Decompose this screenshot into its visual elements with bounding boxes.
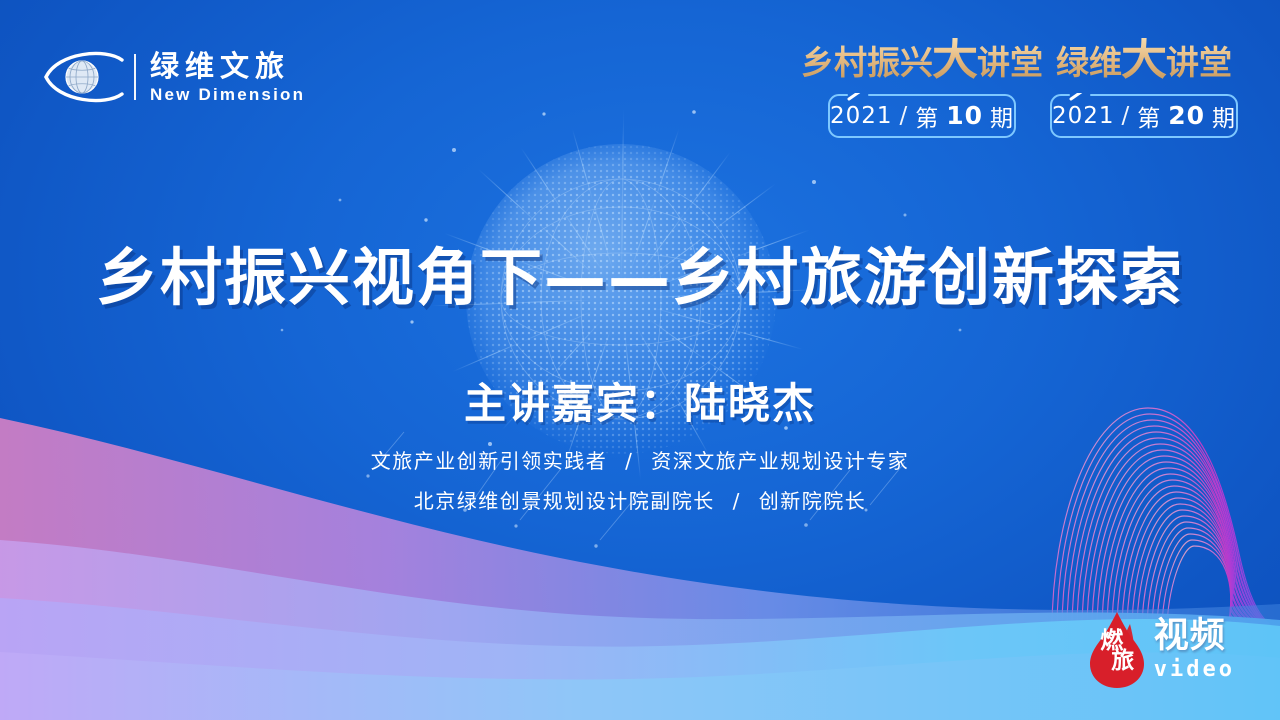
issue-sep-2: / [1122, 103, 1131, 129]
issue-year-2: 2021 [1052, 103, 1115, 129]
credential-1-sep: / [625, 449, 633, 473]
issue-suffix-2: 期 [1212, 99, 1236, 133]
issue-frame-1: 2021 / 第10期 [827, 93, 1017, 139]
issue-prefix-1: 第 [915, 99, 939, 133]
issue-year-1: 2021 [830, 103, 893, 129]
speaker-credentials-line-1: 文旅产业创新引领实践者 / 资深文旅产业规划设计专家 [0, 445, 1280, 474]
series-title-1-prefix: 乡村振兴 [801, 46, 933, 81]
logo-divider [134, 54, 136, 100]
series-title-1: 乡村振兴大讲堂 [801, 38, 1043, 81]
speaker-name: 主讲嘉宾：陆晓杰 [0, 370, 1280, 431]
page-title: 乡村振兴视角下——乡村旅游创新探索 [0, 227, 1280, 317]
series-title-1-suffix: 讲堂 [977, 46, 1043, 81]
flame-logo: 燃 旅 [1086, 610, 1148, 690]
brand-name-cn: 绿维文旅 [150, 52, 305, 81]
series-title-1-big: 大 [932, 38, 978, 79]
series-title-2: 绿维大讲堂 [1056, 38, 1232, 81]
flame-char-2: 旅 [1111, 650, 1134, 672]
credential-2-right: 创新院院长 [759, 489, 867, 513]
series-badge-1: 乡村振兴大讲堂 2021 / 第10期 [822, 38, 1022, 139]
speaker-block: 主讲嘉宾：陆晓杰 文旅产业创新引领实践者 / 资深文旅产业规划设计专家 北京绿维… [0, 370, 1280, 514]
series-title-2-big: 大 [1121, 38, 1167, 79]
eye-globe-icon [42, 44, 126, 110]
watermark-label-cn: 视频 [1154, 619, 1235, 654]
brand-logo: 绿维文旅 New Dimension [42, 44, 305, 110]
series-badge-2: 绿维大讲堂 2021 / 第20期 [1044, 38, 1244, 139]
issue-label-1: 2021 / 第10期 [830, 99, 1014, 133]
credential-2-left: 北京绿维创景规划设计院副院长 [414, 489, 715, 513]
credential-1-right: 资深文旅产业规划设计专家 [651, 449, 909, 473]
video-watermark: 燃 旅 视频 video [1086, 610, 1235, 690]
brand-name-en: New Dimension [150, 86, 305, 103]
series-badges: 乡村振兴大讲堂 2021 / 第10期 绿维大讲堂 [822, 38, 1244, 139]
series-title-2-suffix: 讲堂 [1166, 46, 1232, 81]
presentation-slide: 绿维文旅 New Dimension 乡村振兴大讲堂 2021 / 第10期 [0, 0, 1280, 720]
series-title-2-prefix: 绿维 [1056, 46, 1122, 81]
watermark-label-en: video [1154, 659, 1235, 681]
issue-sep-1: / [900, 103, 909, 129]
issue-frame-2: 2021 / 第20期 [1049, 93, 1239, 139]
issue-number-1: 10 [946, 101, 983, 130]
flame-text: 燃 旅 [1086, 610, 1148, 690]
credential-2-sep: / [733, 489, 741, 513]
issue-suffix-1: 期 [990, 99, 1014, 133]
issue-label-2: 2021 / 第20期 [1052, 99, 1236, 133]
credential-1-left: 文旅产业创新引领实践者 [371, 449, 608, 473]
issue-prefix-2: 第 [1137, 99, 1161, 133]
speaker-credentials-line-2: 北京绿维创景规划设计院副院长 / 创新院院长 [0, 485, 1280, 514]
issue-number-2: 20 [1168, 101, 1205, 130]
